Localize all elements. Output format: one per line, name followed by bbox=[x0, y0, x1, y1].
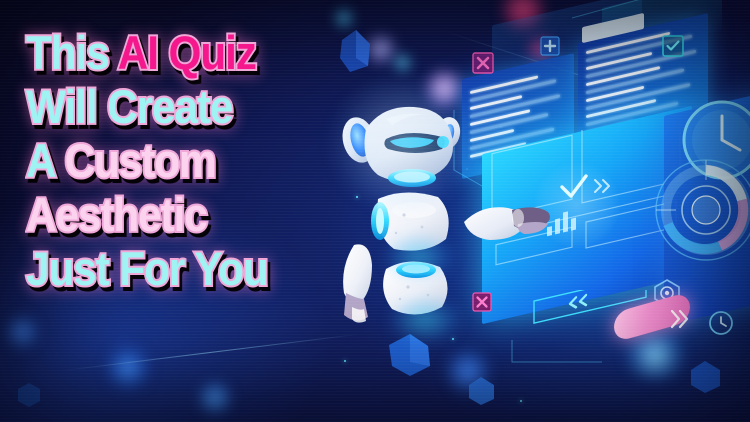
bokeh-orb bbox=[393, 53, 412, 72]
bokeh-orb bbox=[197, 380, 233, 416]
headline-line-2: Will Create bbox=[26, 80, 323, 134]
headline-seg-this: This bbox=[26, 26, 118, 79]
bokeh-orb bbox=[4, 314, 40, 350]
robot-thruster-glow bbox=[384, 235, 454, 279]
headline-block: This AI Quiz Will Create A Custom Aesthe… bbox=[26, 26, 356, 296]
spark-dot bbox=[344, 360, 346, 362]
bokeh-orb bbox=[104, 344, 152, 392]
headline-line-3: A Custom bbox=[26, 134, 323, 188]
headline-seg-custom: Custom bbox=[65, 134, 216, 187]
headline-line-4: Aesthetic bbox=[26, 188, 323, 242]
headline-seg-ai-quiz: AI Quiz bbox=[118, 26, 256, 79]
headline-seg-a: A bbox=[26, 134, 65, 187]
polygon-shape bbox=[16, 382, 42, 408]
robot-thruster-glow bbox=[388, 297, 462, 343]
light-streak bbox=[61, 334, 359, 372]
headline-line-5: Just For You bbox=[26, 242, 323, 296]
banner-image: This AI Quiz Will Create A Custom Aesthe… bbox=[0, 0, 750, 422]
headline-seg-just-for-you: Just For You bbox=[26, 242, 268, 295]
headline-line-1: This AI Quiz bbox=[26, 26, 323, 80]
headline-seg-will-create: Will Create bbox=[26, 80, 232, 133]
headline-seg-aesthetic: Aesthetic bbox=[26, 188, 207, 241]
robot-hand-pointing bbox=[462, 198, 572, 254]
spark-dot bbox=[520, 400, 522, 402]
